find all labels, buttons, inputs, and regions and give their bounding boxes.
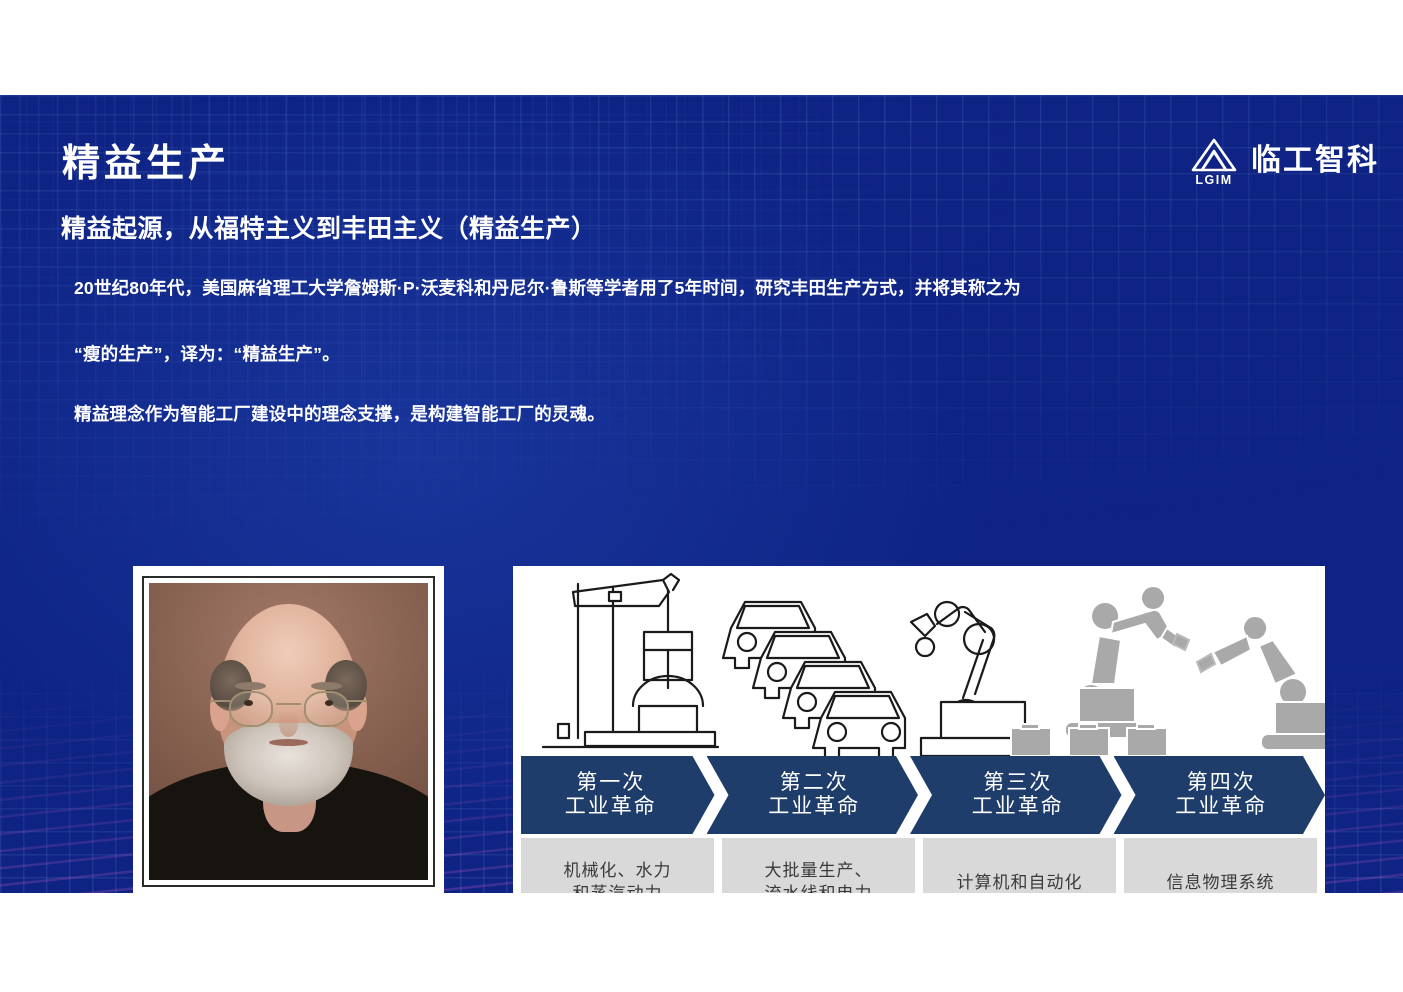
brand-logo: LGIM 临工智科	[1188, 135, 1379, 187]
robot-arms-filled-icon	[1011, 586, 1325, 756]
stage-3-desc-line-1: 计算机和自动化	[957, 872, 1083, 893]
stage-1-name-line-1: 第一次	[576, 771, 645, 795]
stage-arrow-2[interactable]: 第二次 工业革命	[707, 756, 919, 834]
stage-2-name-line-1: 第二次	[780, 771, 849, 795]
stage-arrow-4[interactable]: 第四次 工业革命	[1114, 756, 1326, 834]
stage-arrow-3[interactable]: 第三次 工业革命	[910, 756, 1122, 834]
stage-1-name-line-2: 工业革命	[565, 795, 657, 819]
stage-desc-2: 大批量生产、 流水线和电力	[722, 838, 915, 893]
stage-4-name-line-1: 第四次	[1187, 771, 1256, 795]
body-paragraph-2: “瘦的生产”，译为：“精益生产”。	[74, 346, 340, 364]
industrial-revolution-stage-bar: 第一次 工业革命 第二次 工业革命 第三次 工业革命 第四次 工业革命	[521, 756, 1317, 834]
stage-4-name-line-2: 工业革命	[1175, 795, 1267, 819]
industrial-revolution-descriptions: 机械化、水力 和蒸汽动力 大批量生产、 流水线和电力 计算机和自动化 信息物理系…	[521, 838, 1317, 893]
industrial-revolution-illustrations	[513, 566, 1325, 756]
triangle-loop-logo-icon: LGIM	[1188, 135, 1240, 187]
stage-2-desc-line-1: 大批量生产、	[765, 860, 873, 883]
body-paragraph-1: 20世纪80年代，美国麻省理工大学詹姆斯·P·沃麦科和丹尼尔·鲁斯等学者用了5年…	[74, 280, 1021, 298]
logo-abbreviation: LGIM	[1188, 173, 1240, 187]
logo-brand-name: 临工智科	[1251, 146, 1379, 176]
industrial-revolution-card: 第一次 工业革命 第二次 工业革命 第三次 工业革命 第四次 工业革命 机械化、…	[513, 566, 1325, 893]
body-paragraph-3: 精益理念作为智能工厂建设中的理念支撑，是构建智能工厂的灵魂。	[74, 406, 605, 424]
portrait-caption: James P. Womack	[142, 887, 435, 893]
stage-2-desc-line-2: 流水线和电力	[765, 883, 873, 893]
stage-arrow-1[interactable]: 第一次 工业革命	[521, 756, 715, 834]
page-subtitle: 精益起源，从福特主义到丰田主义（精益生产）	[61, 217, 597, 242]
portrait-card: James P. Womack @杨智吾羽·上海 weibo.com/yangz…	[133, 566, 444, 893]
slide-canvas: 精益生产 精益起源，从福特主义到丰田主义（精益生产） 20世纪80年代，美国麻省…	[0, 95, 1403, 893]
assembly-line-cars-icon	[723, 602, 905, 756]
stage-2-name-line-2: 工业革命	[768, 795, 860, 819]
portrait-frame	[142, 576, 435, 887]
steam-engine-icon	[543, 574, 718, 747]
stage-desc-4: 信息物理系统	[1124, 838, 1317, 893]
stage-desc-1: 机械化、水力 和蒸汽动力	[521, 838, 714, 893]
stage-desc-3: 计算机和自动化	[923, 838, 1116, 893]
stage-3-name-line-1: 第三次	[983, 771, 1052, 795]
portrait-photo-james-womack	[149, 583, 428, 880]
stage-1-desc-line-1: 机械化、水力	[564, 860, 672, 883]
stage-1-desc-line-2: 和蒸汽动力	[573, 883, 663, 893]
stage-3-name-line-2: 工业革命	[972, 795, 1064, 819]
page-title: 精益生产	[62, 145, 230, 183]
stage-4-desc-line-1: 信息物理系统	[1167, 872, 1275, 893]
